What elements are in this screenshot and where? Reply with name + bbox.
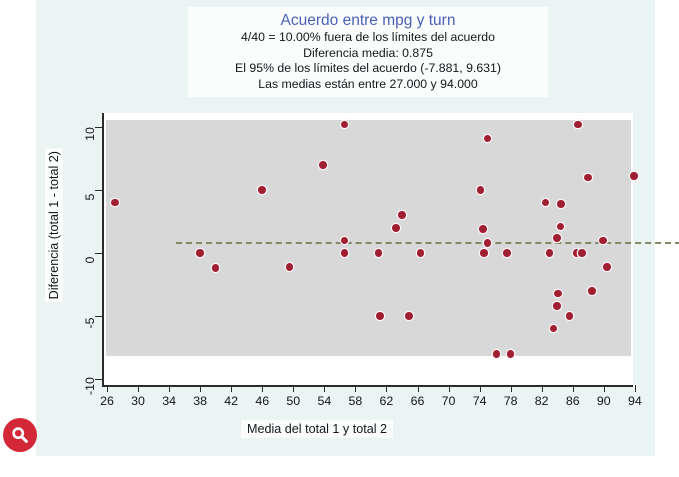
scatter-point: [507, 350, 515, 358]
chart-subtitle-outliers: 4/40 = 10.00% fuera de los límites del a…: [188, 30, 548, 46]
x-axis-tick-label: 62: [380, 394, 394, 408]
x-axis-tick: [480, 385, 481, 392]
x-axis-line: [102, 385, 633, 387]
chart-title: Acuerdo entre mpg y turn: [188, 11, 548, 30]
scatter-point: [341, 249, 349, 257]
scatter-point: [258, 186, 266, 194]
scatter-point: [477, 186, 485, 194]
scatter-point: [557, 200, 565, 208]
scatter-point: [578, 249, 586, 257]
bottom-gutter: [0, 456, 679, 477]
scatter-point: [196, 249, 204, 257]
x-axis-tick-label: 66: [411, 394, 425, 408]
chart-header: Acuerdo entre mpg y turn 4/40 = 10.00% f…: [188, 7, 548, 97]
x-axis-tick: [542, 385, 543, 392]
scatter-point: [554, 290, 562, 298]
scatter-point: [599, 237, 607, 245]
left-gutter: [0, 0, 36, 477]
x-axis-tick-label: 34: [162, 394, 176, 408]
scatter-point: [392, 224, 400, 232]
x-axis-tick: [324, 385, 325, 392]
x-axis-tick-label: 90: [597, 394, 611, 408]
x-axis-tick: [200, 385, 201, 392]
bland-altman-chart: Acuerdo entre mpg y turn 4/40 = 10.00% f…: [36, 0, 655, 456]
x-axis-tick: [138, 385, 139, 392]
x-axis-tick: [604, 385, 605, 392]
x-axis-tick-label: 86: [566, 394, 580, 408]
scatter-point: [111, 199, 119, 207]
scatter-point: [546, 249, 554, 257]
x-axis-tick-label: 54: [317, 394, 331, 408]
x-axis-tick-label: 94: [628, 394, 642, 408]
y-axis-tick-label: -5: [83, 317, 97, 328]
scatter-point: [484, 239, 492, 247]
x-axis-tick-label: 30: [131, 394, 145, 408]
y-axis-tick-label: 0: [83, 257, 97, 264]
x-axis-tick-label: 82: [535, 394, 549, 408]
x-axis-tick-label: 78: [504, 394, 518, 408]
scatter-point: [630, 172, 638, 180]
x-axis-tick: [231, 385, 232, 392]
y-axis-tick-label: -10: [83, 377, 97, 395]
y-axis-tick: [95, 253, 103, 254]
scatter-point: [376, 312, 384, 320]
y-axis-tick-label: 5: [83, 194, 97, 201]
x-axis-tick-label: 58: [348, 394, 362, 408]
y-axis-tick: [95, 190, 103, 191]
x-axis-tick-label: 50: [286, 394, 300, 408]
x-axis-tick: [107, 385, 108, 392]
x-axis-tick: [635, 385, 636, 392]
scatter-point: [286, 263, 294, 271]
x-axis-tick-label: 42: [224, 394, 238, 408]
x-axis-tick: [293, 385, 294, 392]
scatter-point: [588, 287, 596, 295]
right-gutter: [655, 0, 679, 477]
x-axis-tick-label: 38: [193, 394, 207, 408]
x-axis-tick: [386, 385, 387, 392]
chart-subtitle-mean-range: Las medias están entre 27.000 y 94.000: [188, 77, 548, 93]
scatter-point: [480, 249, 488, 257]
scatter-point: [553, 302, 561, 310]
x-axis-tick-label: 74: [473, 394, 487, 408]
scatter-point: [479, 225, 487, 233]
x-axis-tick: [169, 385, 170, 392]
x-axis-tick-label: 46: [255, 394, 269, 408]
scatter-point: [493, 350, 501, 358]
scatter-point: [553, 234, 561, 242]
x-axis-tick: [262, 385, 263, 392]
scatter-point: [319, 161, 327, 169]
x-axis-tick: [418, 385, 419, 392]
x-axis-tick-label: 70: [442, 394, 456, 408]
scatter-point: [603, 263, 611, 271]
x-axis-tick-label: 26: [100, 394, 114, 408]
y-axis-title: Diferencia (total 1 - total 2): [45, 148, 63, 302]
x-axis-tick: [355, 385, 356, 392]
y-axis-line: [102, 113, 104, 385]
chart-subtitle-limits-of-agreement: El 95% de los límites del acuerdo (-7.88…: [188, 61, 548, 77]
scatter-point: [405, 312, 413, 320]
x-axis-title: Media del total 1 y total 2: [241, 420, 393, 438]
search-icon[interactable]: [3, 418, 37, 452]
scatter-point: [503, 249, 511, 257]
scatter-point: [398, 211, 406, 219]
x-axis-tick: [511, 385, 512, 392]
x-axis-tick: [449, 385, 450, 392]
chart-subtitle-mean-difference: Diferencia media: 0.875: [188, 46, 548, 62]
scatter-point: [417, 249, 425, 257]
y-axis-tick-label: 10: [83, 127, 97, 141]
limits-of-agreement-band: [106, 120, 631, 356]
x-axis-tick: [573, 385, 574, 392]
